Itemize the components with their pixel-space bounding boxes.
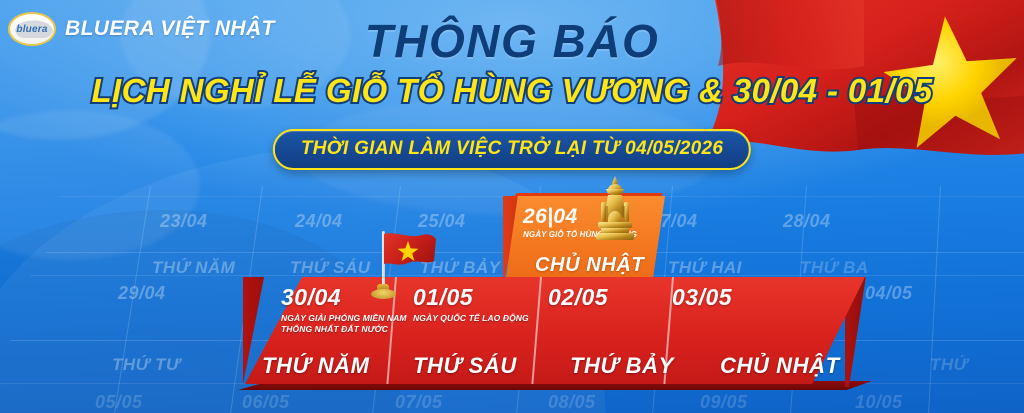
return-date-text: THỜI GIAN LÀM VIỆC TRỞ LẠI TỪ 04/05/2026 [301,138,723,159]
holiday-weekday: THỨ NĂM [262,353,370,379]
ghost-date: 10/05 [855,392,903,413]
cloud-logo-icon: bluera [8,12,56,46]
ghost-weekday: THỨ SÁU [290,258,371,278]
ghost-weekday: THỨ BA [800,258,869,278]
page-subtitle: LỊCH NGHỈ LỄ GIỖ TỔ HÙNG VƯƠNG & 30/04 -… [0,72,1024,110]
holiday-note: NGÀY QUỐC TẾ LAO ĐỘNG [413,313,529,324]
ghost-date: 23/04 [160,211,208,232]
holiday-note: NGÀY GIẢI PHÓNG MIỀN NAM THỐNG NHẤT ĐẤT … [281,313,407,334]
ghost-date: 28/04 [783,211,831,232]
brand-logo[interactable]: bluera BLUERA VIỆT NHẬT [8,12,275,46]
holiday-weekday: THỨ BẢY [570,353,674,379]
grid-vline-7 [928,186,941,413]
ghost-date: 05/05 [95,392,143,413]
holiday-cell[interactable]: 02/05 [548,284,608,311]
holiday-weekday: THỨ SÁU [413,353,517,379]
holiday-weekday-wrap: THỨ BẢY [570,353,674,379]
ghost-weekday: THỨ [930,355,968,375]
holiday-weekday: CHỦ NHẬT [720,353,840,379]
ghost-date: 24/04 [295,211,343,232]
holiday-date: 02/05 [548,284,608,311]
flag-cloth [384,233,436,267]
brand-name: BLUERA VIỆT NHẬT [65,17,275,41]
ghost-date: 09/05 [700,392,748,413]
holiday-date: 03/05 [672,284,732,311]
holiday-weekday-wrap: CHỦ NHẬT [720,353,840,379]
holiday-date: 01/05 [413,284,529,311]
ghost-weekday: THỨ NĂM [152,258,235,278]
holiday-weekday-wrap: THỨ SÁU [413,353,517,379]
banner-stage: bluera BLUERA VIỆT NHẬT THÔNG BÁO LỊCH N… [0,0,1024,413]
ghost-date: 06/05 [242,392,290,413]
ghost-date: 29/04 [118,283,166,304]
tile-date: 26|04 [523,205,578,229]
hung-king-statue-icon [592,176,638,242]
ghost-date: 07/05 [395,392,443,413]
holiday-cell[interactable]: 03/05 [672,284,732,311]
holiday-cell[interactable]: 01/05 NGÀY QUỐC TẾ LAO ĐỘNG [413,284,529,324]
ghost-weekday: THỨ HAI [668,258,742,278]
tile-weekday: CHỦ NHẬT [535,254,644,277]
flag-base [371,289,396,299]
holiday-weekday-wrap: THỨ NĂM [262,353,370,379]
holiday-tile-hung-king[interactable]: 26|04 NGÀY GIỖ TỔ HÙNG VƯƠNG CHỦ NHẬT [505,196,665,284]
ghost-date: 04/05 [865,283,913,304]
ghost-date: 25/04 [418,211,466,232]
return-date-ribbon: THỜI GIAN LÀM VIỆC TRỞ LẠI TỪ 04/05/2026 [273,129,751,170]
ghost-weekday: THỨ TƯ [112,355,180,375]
ghost-date: 08/05 [548,392,596,413]
logo-wordmark: bluera [16,24,47,35]
